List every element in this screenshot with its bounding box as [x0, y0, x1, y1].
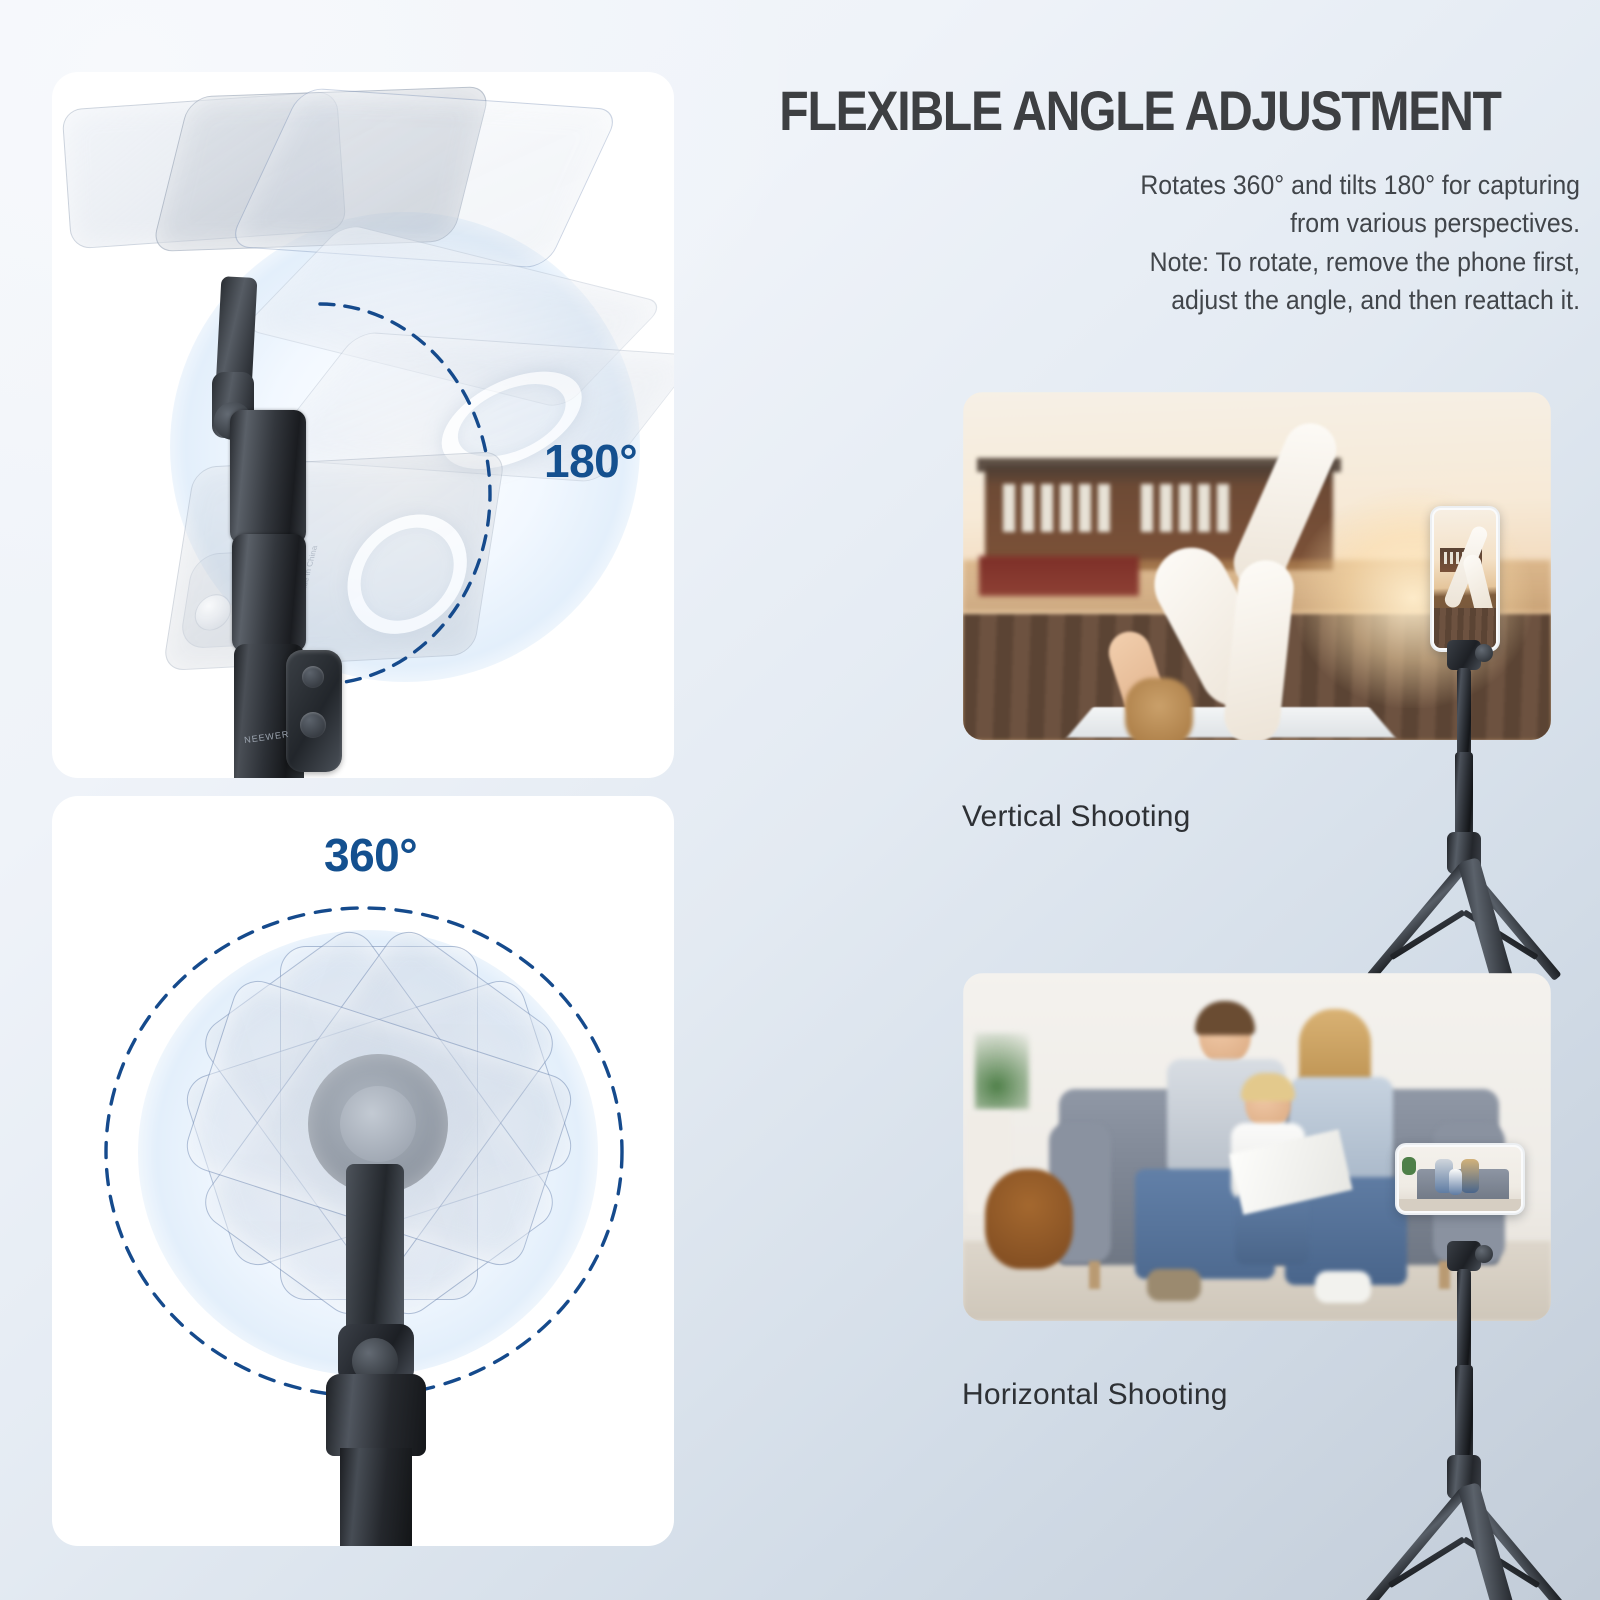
- description-line-1: Rotates 360° and tilts 180° for capturin…: [927, 166, 1580, 204]
- description-line-4: adjust the angle, and then reattach it.: [927, 281, 1580, 319]
- tripod-shaft-mid: [1455, 752, 1473, 838]
- tilt-illustration-panel: CE · FCC · Made in China NEEWER 180°: [52, 72, 674, 778]
- shutter-button[interactable]: [300, 712, 326, 738]
- control-pad[interactable]: [286, 650, 342, 772]
- camera-lens-icon: [192, 593, 234, 631]
- tripod-shaft-top: [1457, 668, 1471, 760]
- product-feature-infographic: CE · FCC · Made in China NEEWER 180° 360…: [0, 0, 1600, 1600]
- pole-upper-segment: [230, 410, 306, 544]
- tripod-head-knob: [1475, 644, 1493, 662]
- tripod-shaft-top: [1457, 1269, 1471, 1373]
- tilt-degree-badge: 180°: [544, 434, 637, 488]
- description-text: Rotates 360° and tilts 180° for capturin…: [927, 166, 1580, 319]
- rotation-base-collar: [326, 1374, 426, 1456]
- page-title: FLEXIBLE ANGLE ADJUSTMENT: [762, 78, 1519, 143]
- rotation-base-pole: [340, 1448, 412, 1546]
- description-line-2: from various perspectives.: [927, 204, 1580, 242]
- tripod-horizontal: [963, 973, 1551, 1573]
- tripod-head-knob: [1475, 1245, 1493, 1263]
- rotation-mount-inner: [340, 1086, 416, 1162]
- magsafe-ring-tilt-5: [339, 512, 476, 637]
- rotation-illustration-panel: 360°: [52, 796, 674, 1546]
- tripod-shaft-mid: [1455, 1365, 1473, 1461]
- caption-horizontal-shooting: Horizontal Shooting: [962, 1378, 1228, 1412]
- caption-vertical-shooting: Vertical Shooting: [962, 800, 1191, 834]
- power-button[interactable]: [302, 666, 324, 688]
- rotate-degree-badge: 360°: [324, 828, 417, 882]
- tripod-vertical: [963, 392, 1551, 952]
- ghost-phone-tilt-5: CE · FCC · Made in China: [162, 451, 506, 671]
- description-line-3: Note: To rotate, remove the phone first,: [927, 243, 1580, 281]
- pole-mid-segment: [232, 534, 306, 652]
